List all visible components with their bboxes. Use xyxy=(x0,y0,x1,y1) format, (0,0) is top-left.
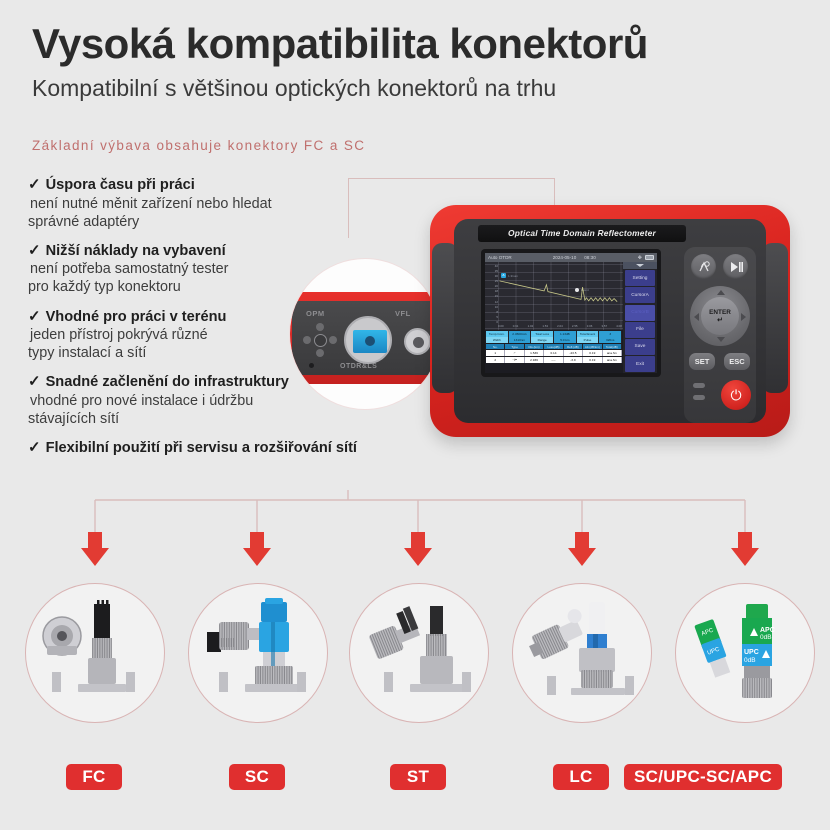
status-date: 2024-05-10 xyxy=(553,255,577,260)
menu-button-setting[interactable]: Setting xyxy=(625,270,655,286)
y-axis-ticks: 4035302520 18151210850 xyxy=(486,264,498,324)
otdr-port xyxy=(344,316,392,364)
feature-heading: ✓Úspora času při práci xyxy=(28,176,358,195)
table-row[interactable]: 1 ⌐ 1.536 0.14 -43.5 0.19 ana.Sn xyxy=(486,350,622,356)
device-keypad: ENTER ↵ SET ESC ⏻ xyxy=(684,247,756,423)
connector-labels: FC SC ST LC SC/UPC-SC/APC xyxy=(0,764,830,798)
inset-port-panel: OPM VFL OTDR&LS xyxy=(292,301,441,375)
table-cell: Width xyxy=(486,337,509,343)
menu-button-file[interactable]: File xyxy=(625,322,655,338)
menu-button-cursor-a[interactable]: CursorA xyxy=(625,287,655,303)
play-pause-button[interactable] xyxy=(723,254,748,279)
dpad[interactable]: ENTER ↵ xyxy=(690,286,750,346)
table-cell: 0.19 xyxy=(583,350,602,356)
badge-st: ST xyxy=(390,764,446,790)
feature-item: ✓Úspora času při práci není nutné měnit … xyxy=(28,176,358,231)
otdr-screen[interactable]: Auto OTDR 2024-05-10 08:30 ✥ 4035302520 … xyxy=(485,253,657,373)
lambda-icon xyxy=(697,260,711,274)
svg-text:UPC: UPC xyxy=(744,649,759,656)
table-cell: 1.13dB xyxy=(554,331,577,337)
power-icon: ⏻ xyxy=(730,387,741,404)
check-icon: ✓ xyxy=(28,308,41,325)
table-col-header: Dis.(km) xyxy=(525,344,544,350)
page-title: Vysoká kompatibilita konektorů xyxy=(32,22,812,66)
dpad-left-icon[interactable] xyxy=(694,313,699,321)
connector-gallery: APC UPC APC 0dB UPC 0dB xyxy=(0,583,830,733)
tree-lines xyxy=(0,490,830,570)
table-cell: Total Event xyxy=(577,331,600,337)
set-button[interactable]: SET xyxy=(689,353,715,370)
status-mode: Auto OTDR xyxy=(488,255,512,260)
sc-upc-apc-connector-image: APC UPC APC 0dB UPC 0dB xyxy=(676,584,815,723)
table-cell: 2.4500m/s xyxy=(509,331,532,337)
enter-label: ENTER xyxy=(709,309,731,316)
table-col-header: No. xyxy=(486,344,505,350)
table-col-header: Att.(dB/km) xyxy=(583,344,602,350)
sc-connector-image xyxy=(189,584,328,723)
table-cell: 3 xyxy=(599,331,622,337)
feature-item: ✓Flexibilní použití při servisu a rozšiř… xyxy=(28,439,358,458)
badge-sc-upc-apc: SC/UPC-SC/APC xyxy=(624,764,782,790)
battery-icon xyxy=(645,255,654,260)
svg-text:APC: APC xyxy=(760,627,775,634)
inset-dpad-icon xyxy=(303,323,337,357)
st-connector-image xyxy=(350,584,489,723)
connector-circle-sc-upc-apc[interactable]: APC UPC APC 0dB UPC 0dB xyxy=(675,583,815,723)
menu-collapse-icon[interactable] xyxy=(623,262,657,269)
table-cell: -3.9 xyxy=(564,357,583,363)
dpad-down-icon[interactable] xyxy=(717,337,725,342)
table-col-header: Loss(dB) xyxy=(544,344,563,350)
fc-connector-image xyxy=(26,584,165,723)
feature-body: vhodné pro nové instalace i údržbu stáva… xyxy=(28,393,253,427)
table-cell: 1 xyxy=(486,350,505,356)
play-pause-icon xyxy=(729,261,743,273)
inset-device-body: OPM VFL OTDR&LS xyxy=(289,292,441,384)
status-icons: ✥ xyxy=(638,255,654,261)
table-cell: 2.936 xyxy=(525,357,544,363)
connector-circle-fc[interactable] xyxy=(25,583,165,723)
check-icon: ✓ xyxy=(28,176,41,193)
badge-sc: SC xyxy=(229,764,285,790)
connector-circle-sc[interactable] xyxy=(188,583,328,723)
otdr-device: Optical Time Domain Reflectometer Auto O… xyxy=(430,205,790,437)
table-cell: ---- xyxy=(544,357,563,363)
table-cell: ⊣⊢ xyxy=(505,357,524,363)
device-brand-bar: Optical Time Domain Reflectometer xyxy=(478,225,686,242)
table-row: Temp.Com. 2.4500m/s Total Loss 1.13dB To… xyxy=(486,331,622,337)
device-brand-text: Optical Time Domain Reflectometer xyxy=(478,228,686,238)
trace-line xyxy=(498,264,621,310)
status-led-top xyxy=(693,383,705,388)
badge-fc: FC xyxy=(66,764,122,790)
wavelength-button[interactable] xyxy=(691,254,716,279)
table-cell: ana.Sn xyxy=(603,350,622,356)
menu-button-cursor-b[interactable]: CursorB xyxy=(625,305,655,321)
screen-status-bar: Auto OTDR 2024-05-10 08:30 ✥ xyxy=(485,253,657,262)
table-cell: ⌐ xyxy=(505,350,524,356)
table-col-header: Refl.(dB) xyxy=(564,344,583,350)
table-cell: 2 xyxy=(486,357,505,363)
feature-body: jeden přístroj pokrývá různé typy instal… xyxy=(28,327,208,361)
table-cell: 0.19 xyxy=(583,357,602,363)
screen-bezel: Auto OTDR 2024-05-10 08:30 ✥ 4035302520 … xyxy=(481,249,661,377)
table-cell: Temp.Com. xyxy=(486,331,509,337)
enter-arrow-icon: ↵ xyxy=(717,317,723,324)
table-cell: -43.5 xyxy=(564,350,583,356)
feature-heading: ✓Nižší náklady na vybavení xyxy=(28,242,358,261)
power-button[interactable]: ⏻ xyxy=(721,380,751,410)
check-icon: ✓ xyxy=(28,242,41,259)
connector-circle-st[interactable] xyxy=(349,583,489,723)
check-icon: ✓ xyxy=(28,373,41,390)
connector-tree xyxy=(0,490,830,570)
table-row[interactable]: 2 ⊣⊢ 2.936 ---- -3.9 0.19 ana.Sn xyxy=(486,357,622,363)
table-col-header: Type xyxy=(505,344,524,350)
svg-text:0dB: 0dB xyxy=(760,634,772,641)
feature-heading: ✓Flexibilní použití při servisu a rozšiř… xyxy=(28,439,358,458)
menu-button-save[interactable]: Save xyxy=(625,339,655,355)
otdr-port-label: OTDR&LS xyxy=(340,363,377,370)
table-col-header: Total(dB) xyxy=(603,344,622,350)
vfl-port xyxy=(404,328,431,355)
table-row: Width 1310nm Range 5.0 km Pulse 320ns xyxy=(486,337,622,343)
otdr-trace-graph[interactable]: 4035302520 18151210850 A 1.31um Event xyxy=(485,262,623,330)
table-cell: Range xyxy=(531,337,554,343)
screen-menu: Setting CursorA CursorB File Save Exit xyxy=(623,262,657,373)
page-header: Vysoká kompatibilita konektorů Kompatibi… xyxy=(32,22,812,102)
dpad-up-icon[interactable] xyxy=(717,290,725,295)
table-cell: 5.0 km xyxy=(554,337,577,343)
dpad-right-icon[interactable] xyxy=(741,313,746,321)
table-cell: 0.14 xyxy=(544,350,563,356)
svg-text:0dB: 0dB xyxy=(744,657,756,664)
vfl-port-label: VFL xyxy=(395,309,411,318)
lc-connector-image xyxy=(513,584,652,723)
table-cell: Total Loss xyxy=(531,331,554,337)
eyebrow-note: Základní výbava obsahuje konektory FC a … xyxy=(32,138,365,153)
opm-port-label: OPM xyxy=(306,309,325,318)
feature-body: není nutné měnit zařízení nebo hledat sp… xyxy=(28,196,272,230)
table-cell: 1.536 xyxy=(525,350,544,356)
table-cell: 320ns xyxy=(599,337,622,343)
badge-lc: LC xyxy=(553,764,609,790)
table-cell: 1310nm xyxy=(509,337,532,343)
enter-button[interactable]: ENTER ↵ xyxy=(701,297,739,335)
status-led-bottom xyxy=(693,395,705,400)
check-icon: ✓ xyxy=(28,439,41,456)
device-front-panel: Optical Time Domain Reflectometer Auto O… xyxy=(454,219,766,423)
inset-indicator-dot xyxy=(309,363,314,368)
table-cell: ana.Sn xyxy=(603,357,622,363)
port-closeup-inset: OPM VFL OTDR&LS xyxy=(289,258,441,410)
connector-circle-lc[interactable] xyxy=(512,583,652,723)
menu-button-exit[interactable]: Exit xyxy=(625,356,655,372)
page-subtitle: Kompatibilní s většinou optických konekt… xyxy=(32,75,812,102)
bluetooth-icon: ✥ xyxy=(638,255,642,261)
measurement-table: Temp.Com. 2.4500m/s Total Loss 1.13dB To… xyxy=(485,330,623,373)
feature-body: není potřeba samostatný tester pro každý… xyxy=(28,261,228,295)
table-cell: Pulse xyxy=(577,337,600,343)
esc-button[interactable]: ESC xyxy=(724,353,750,370)
status-time: 08:30 xyxy=(584,255,596,260)
table-header-row: No. Type Dis.(km) Loss(dB) Refl.(dB) Att… xyxy=(486,344,622,350)
